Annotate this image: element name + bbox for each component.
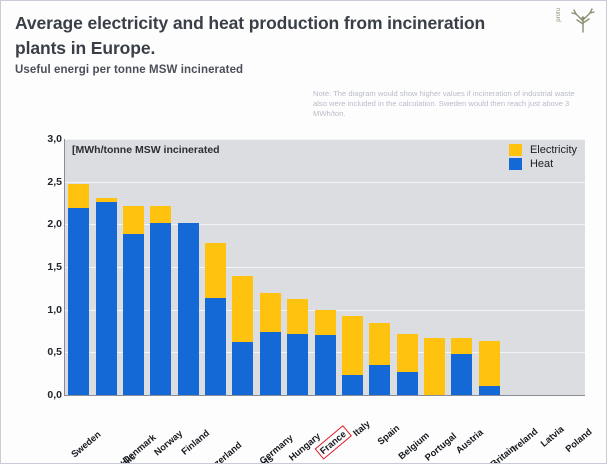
bar-segment-electricity	[369, 323, 390, 365]
bar-segment-heat	[260, 332, 281, 395]
x-axis-tick-label: Italy	[361, 402, 362, 403]
bar-segment-heat	[287, 334, 308, 395]
profu-logo: profu	[554, 5, 600, 39]
bar-segment-heat	[96, 202, 117, 395]
x-axis-tick-label: Sweden	[88, 402, 89, 403]
plot-area: [MWh/tonne MSW incinerated Electricity H…	[64, 139, 585, 396]
bar[interactable]	[178, 223, 199, 395]
bar-segment-electricity	[232, 276, 253, 343]
bar-segment-electricity	[287, 299, 308, 334]
y-axis: 0,00,51,01,52,02,53,0	[15, 129, 62, 399]
bar-segment-electricity	[150, 206, 171, 223]
bar-segment-electricity	[451, 338, 472, 354]
bar[interactable]	[205, 243, 226, 395]
x-axis-tick-label: Czech Republic	[115, 402, 116, 403]
bar-segment-electricity	[96, 198, 117, 202]
logo-wordmark: profu	[556, 8, 562, 22]
y-axis-tick: 1,5	[28, 261, 62, 273]
bar[interactable]	[260, 293, 281, 395]
bar[interactable]	[479, 341, 500, 395]
x-axis-tick-label: Belgium	[416, 402, 417, 403]
bar[interactable]	[369, 323, 390, 395]
page-subtitle: Useful energi per tonne MSW incinerated	[15, 64, 243, 76]
bar-segment-electricity	[205, 243, 226, 298]
gridline	[65, 139, 585, 140]
bar[interactable]	[150, 206, 171, 395]
x-axis-tick-label: The Netherlands	[252, 402, 253, 403]
x-axis-tick-label: Denmark	[142, 402, 143, 403]
bar-segment-heat	[150, 223, 171, 395]
x-axis-tick-label: Germany	[279, 402, 280, 403]
x-axis-tick-label: Hungary	[307, 402, 308, 403]
bar-segment-heat	[369, 365, 390, 395]
legend-label-heat: Heat	[530, 158, 553, 170]
bar-segment-electricity	[424, 338, 445, 395]
bar-segment-electricity	[315, 310, 336, 336]
y-axis-tick: 1,0	[28, 304, 62, 316]
y-axis-tick: 0,0	[28, 389, 62, 401]
bar[interactable]	[397, 334, 418, 395]
bar-segment-electricity	[397, 334, 418, 372]
bar-segment-heat	[68, 208, 89, 395]
bar-segment-heat	[342, 375, 363, 395]
bar-segment-electricity	[479, 341, 500, 386]
x-axis-tick-label: Portugal	[443, 402, 444, 403]
bar[interactable]	[287, 299, 308, 395]
bar[interactable]	[424, 338, 445, 395]
bar[interactable]	[123, 206, 144, 395]
x-axis-tick-label: Ireland	[526, 402, 527, 403]
x-label: Spain	[373, 421, 403, 449]
bar-segment-electricity	[123, 206, 144, 233]
bar-segment-heat	[232, 342, 253, 395]
x-axis-tick-label: Poland	[580, 402, 581, 403]
plant-icon	[571, 7, 595, 33]
x-axis-tick-label: Spain	[389, 402, 390, 403]
chart-legend: Electricity Heat	[509, 144, 577, 172]
bar-segment-heat	[397, 372, 418, 395]
x-label-highlighted: France	[315, 425, 352, 459]
x-label: Ireland	[507, 424, 541, 455]
bar-segment-electricity	[342, 316, 363, 376]
bar-segment-electricity	[260, 293, 281, 331]
bar-segment-heat	[315, 335, 336, 395]
slide-canvas: Average electricity and heat production …	[0, 0, 607, 464]
y-axis-tick: 2,0	[28, 218, 62, 230]
legend-swatch-electricity	[509, 144, 522, 156]
gridline	[65, 182, 585, 183]
x-axis-tick-label: Switzerland	[225, 402, 226, 403]
x-label: Italy	[349, 417, 374, 441]
x-axis-tick-label: France	[334, 402, 335, 403]
x-axis-tick-label: Norway	[170, 402, 171, 403]
bar[interactable]	[315, 310, 336, 395]
bar[interactable]	[96, 198, 117, 395]
x-axis-tick-label: Latvia	[553, 402, 554, 403]
bar-segment-heat	[123, 234, 144, 395]
plot-unit-label: [MWh/tonne MSW incinerated	[72, 144, 220, 156]
bar[interactable]	[232, 276, 253, 395]
bar[interactable]	[451, 338, 472, 395]
bar-segment-heat	[479, 386, 500, 395]
y-axis-tick: 3,0	[28, 133, 62, 145]
y-axis-tick: 0,5	[28, 346, 62, 358]
chart-container: 0,00,51,01,52,02,53,0 [MWh/tonne MSW inc…	[15, 129, 593, 451]
chart-note: Note: The diagram would show higher valu…	[313, 89, 581, 120]
x-axis-tick-label: Great Britain	[498, 402, 499, 403]
x-axis-tick-label: Finland	[197, 402, 198, 403]
bar-segment-heat	[205, 298, 226, 395]
x-axis-tick-label: Austria	[471, 402, 472, 403]
page-title: Average electricity and heat production …	[15, 11, 515, 61]
x-label: Sweden	[67, 427, 105, 461]
bar[interactable]	[342, 316, 363, 395]
legend-item-heat: Heat	[509, 158, 577, 170]
bar-segment-electricity	[68, 184, 89, 208]
bar-segment-heat	[178, 223, 199, 395]
legend-label-electricity: Electricity	[530, 144, 577, 156]
bar[interactable]	[68, 184, 89, 395]
legend-item-electricity: Electricity	[509, 144, 577, 156]
y-axis-tick: 2,5	[28, 176, 62, 188]
bar-segment-heat	[451, 354, 472, 395]
x-label: Austria	[452, 425, 487, 457]
legend-swatch-heat	[509, 158, 522, 170]
x-axis-labels: SwedenCzech RepublicDenmarkNorwayFinland…	[64, 399, 594, 451]
